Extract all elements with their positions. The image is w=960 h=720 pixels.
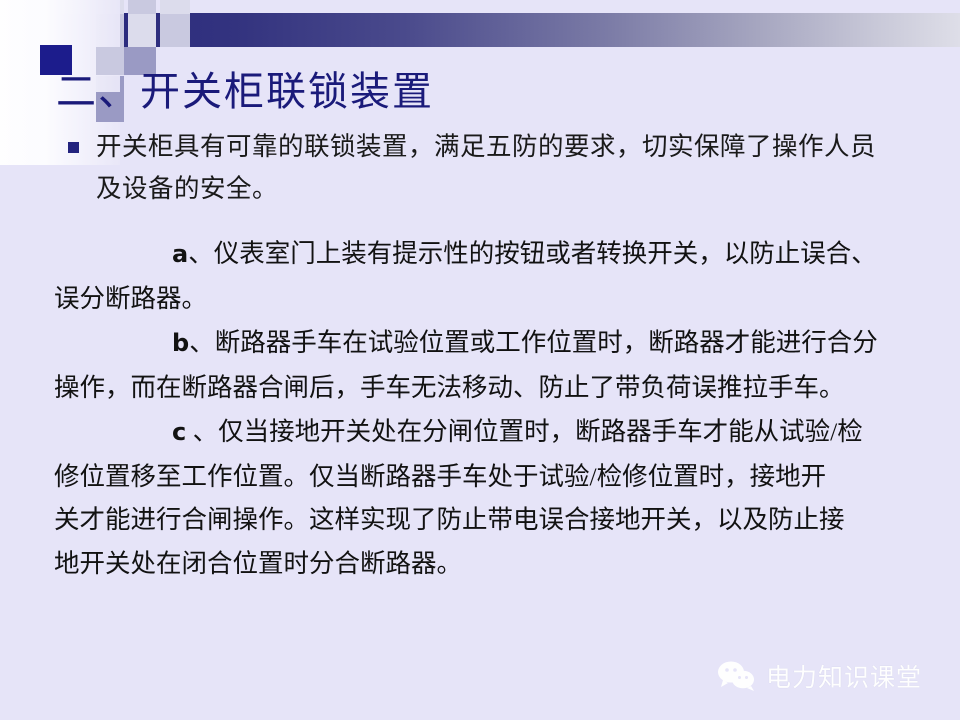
bullet-line-1: 开关柜具有可靠的联锁装置，满足五防的要求，切实保障了操作人员: [96, 126, 940, 168]
paragraph-c-text-1: 仅当接地开关处在分闸位置时，断路器手车才能从试验/检: [218, 417, 863, 446]
paragraph-b-separator: 、: [189, 328, 215, 357]
header-gradient-bar: [118, 13, 960, 47]
watermark: 电力知识课堂: [717, 658, 922, 694]
decor-square: [160, 0, 190, 14]
paragraph-b-label: b: [172, 329, 189, 357]
slide-body: 开关柜具有可靠的联锁装置，满足五防的要求，切实保障了操作人员 及设备的安全。 a…: [0, 126, 960, 585]
paragraph-a-text-1: 仪表室门上装有提示性的按钮或者转换开关，以防止误合、: [214, 239, 877, 268]
bullet-square-icon: [68, 142, 79, 153]
paragraph-c-line-1: c 、仅当接地开关处在分闸位置时，断路器手车才能从试验/检: [54, 410, 946, 455]
paragraph-c-separator: 、: [186, 417, 218, 446]
paragraph-a-line-2: 误分断路器。: [54, 277, 946, 321]
paragraph-c: c 、仅当接地开关处在分闸位置时，断路器手车才能从试验/检 修位置移至工作位置。…: [0, 410, 960, 585]
paragraph-b-line-2: 操作，而在断路器合闸后，手车无法移动、防止了带负荷误推拉手车。: [54, 366, 946, 410]
presentation-slide: 二、开关柜联锁装置 开关柜具有可靠的联锁装置，满足五防的要求，切实保障了操作人员…: [0, 0, 960, 720]
paragraph-a-label: a: [172, 240, 188, 268]
paragraph-a: a、仪表室门上装有提示性的按钮或者转换开关，以防止误合、 误分断路器。: [0, 232, 960, 320]
paragraph-c-line-3: 关才能进行合闸操作。这样实现了防止带电误合接地开关，以及防止接: [54, 498, 946, 542]
watermark-text: 电力知识课堂: [766, 658, 922, 694]
paragraph-a-line-1: a、仪表室门上装有提示性的按钮或者转换开关，以防止误合、: [54, 232, 946, 277]
paragraph-b-text-1: 断路器手车在试验位置或工作位置时，断路器才能进行合分: [215, 328, 878, 357]
decor-square: [128, 0, 156, 14]
paragraph-b: b、断路器手车在试验位置或工作位置时，断路器才能进行合分 操作，而在断路器合闸后…: [0, 321, 960, 409]
paragraph-c-line-4: 地开关处在闭合位置时分合断路器。: [54, 542, 946, 586]
paragraph-b-line-1: b、断路器手车在试验位置或工作位置时，断路器才能进行合分: [54, 321, 946, 366]
bullet-line-2: 及设备的安全。: [96, 168, 940, 210]
page-title: 二、开关柜联锁装置: [56, 69, 434, 115]
paragraph-c-label: c: [172, 418, 186, 446]
decor-square: [128, 14, 156, 47]
decor-square: [160, 14, 190, 47]
paragraph-c-line-2: 修位置移至工作位置。仅当断路器手车处于试验/检修位置时，接地开: [54, 455, 946, 499]
bullet-paragraph: 开关柜具有可靠的联锁装置，满足五防的要求，切实保障了操作人员 及设备的安全。: [0, 126, 960, 210]
wechat-icon: [717, 660, 757, 692]
paragraph-a-separator: 、: [188, 239, 214, 268]
